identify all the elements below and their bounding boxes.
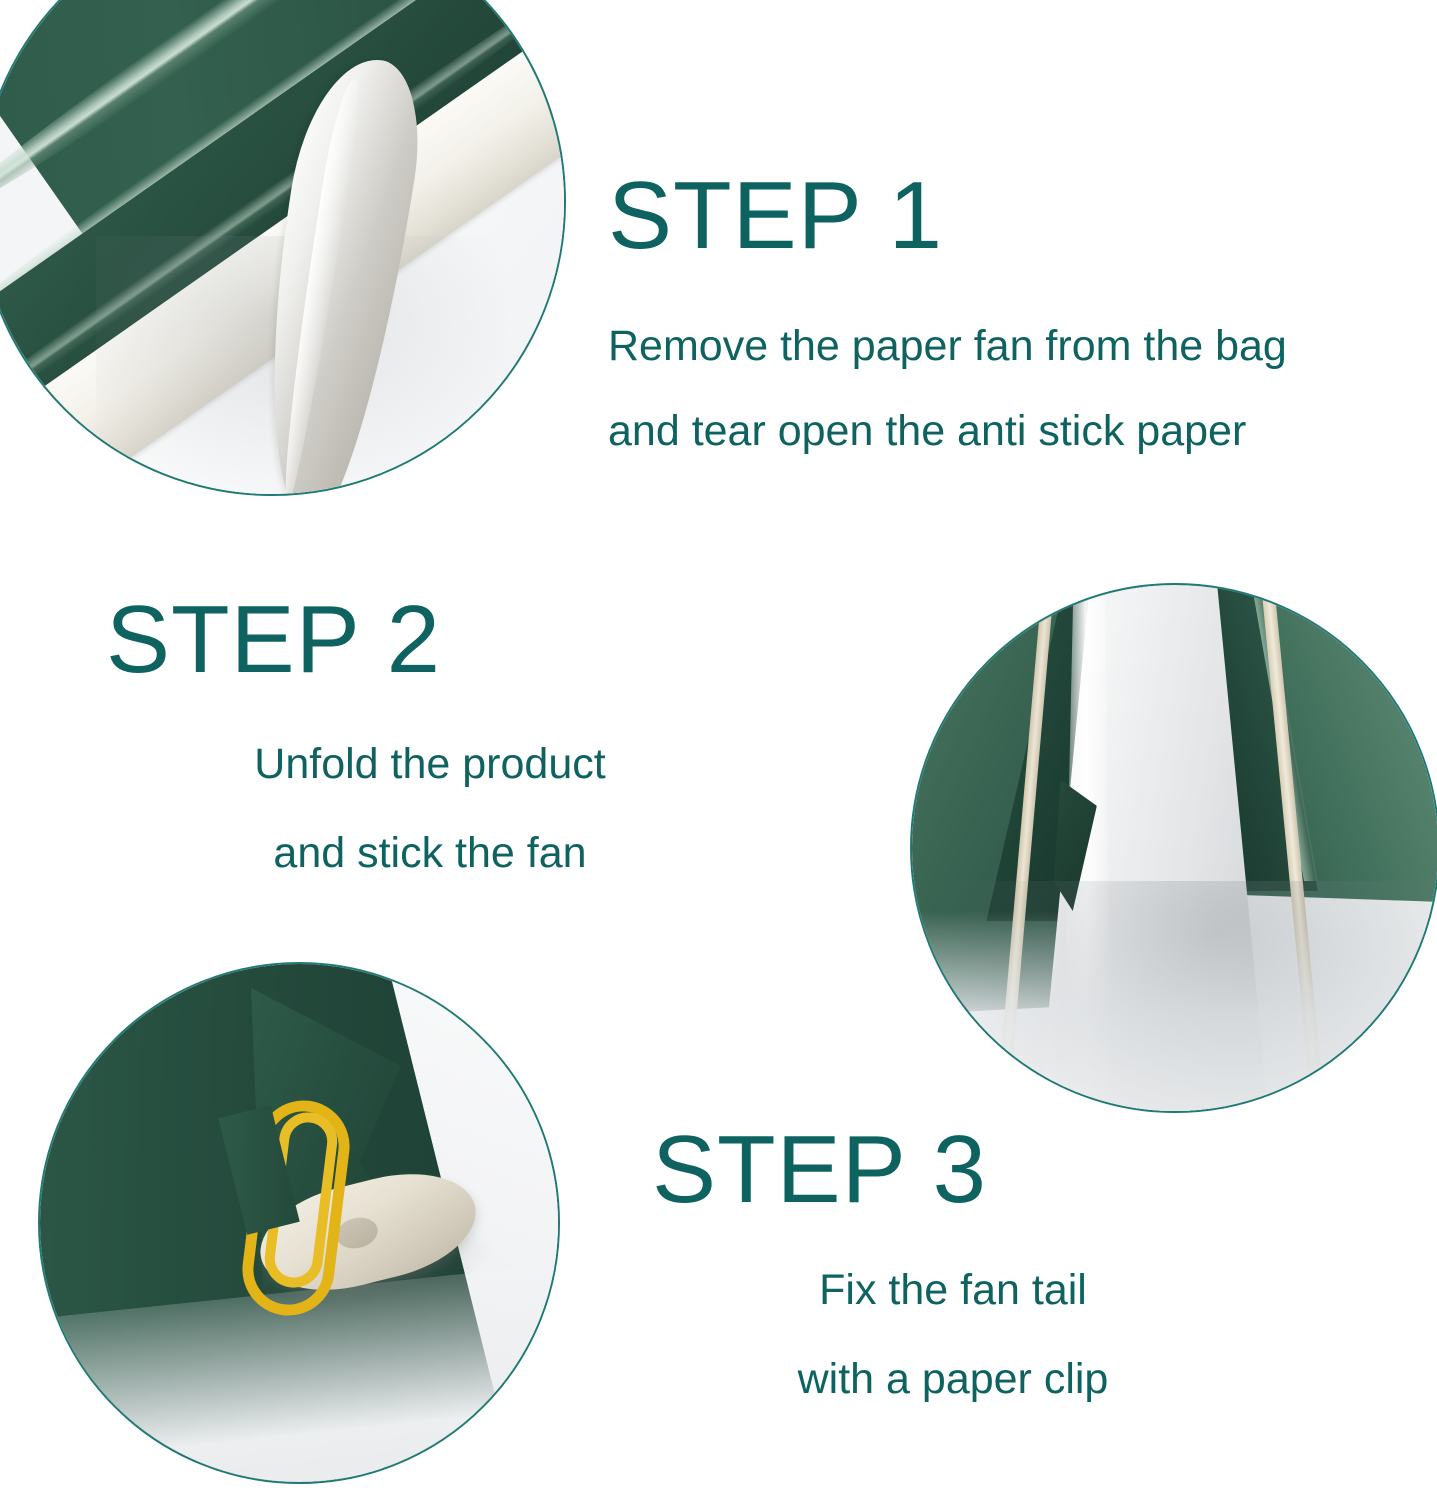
step-1-photo bbox=[0, 0, 566, 496]
step-1-line-2: and tear open the anti stick paper bbox=[608, 409, 1287, 454]
step-2-photo bbox=[910, 583, 1437, 1113]
step-2-title: STEP 2 bbox=[100, 592, 760, 688]
soft-shadow bbox=[928, 881, 1437, 1113]
step-1-text-block: STEP 1 Remove the paper fan from the bag… bbox=[608, 168, 1287, 494]
step-1-line-1: Remove the paper fan from the bag bbox=[608, 324, 1287, 369]
step-3-photo bbox=[38, 962, 560, 1484]
step-1-title: STEP 1 bbox=[608, 168, 1287, 264]
step-3-line-2: with a paper clip bbox=[648, 1357, 1258, 1402]
step-3-text-block: STEP 3 Fix the fan tail with a paper cli… bbox=[648, 1122, 1258, 1446]
step-2-text-block: STEP 2 Unfold the product and stick the … bbox=[100, 592, 760, 920]
step-2-photo-content bbox=[910, 583, 1437, 1113]
instruction-graphic: STEP 1 Remove the paper fan from the bag… bbox=[0, 0, 1437, 1500]
step-3-line-1: Fix the fan tail bbox=[648, 1268, 1258, 1313]
step-3-photo-content bbox=[38, 962, 560, 1484]
step-2-line-2: and stick the fan bbox=[100, 831, 760, 876]
step-1-photo-content bbox=[0, 0, 566, 496]
step-2-line-1: Unfold the product bbox=[100, 742, 760, 787]
step-3-title: STEP 3 bbox=[648, 1122, 1258, 1218]
